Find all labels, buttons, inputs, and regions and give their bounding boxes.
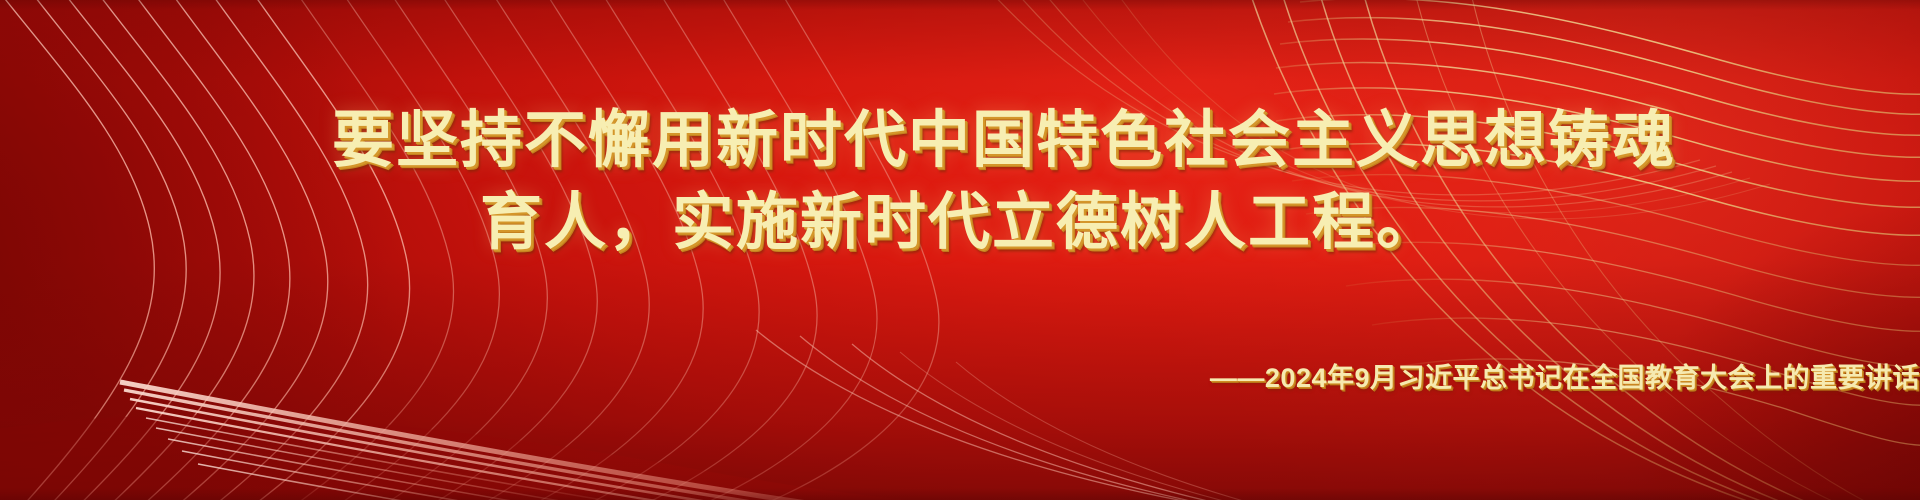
headline-line-2: 育人，实施新时代立德树人工程。	[0, 192, 1920, 254]
slogan-text-block: 要坚持不懈用新时代中国特色社会主义思想铸魂 育人，实施新时代立德树人工程。 ——…	[0, 0, 1920, 500]
red-gold-slogan-banner: 要坚持不懈用新时代中国特色社会主义思想铸魂 育人，实施新时代立德树人工程。 ——…	[0, 0, 1920, 500]
speech-attribution: ——2024年9月习近平总书记在全国教育大会上的重要讲话	[0, 365, 1920, 392]
headline-line-1: 要坚持不懈用新时代中国特色社会主义思想铸魂	[0, 110, 1920, 172]
